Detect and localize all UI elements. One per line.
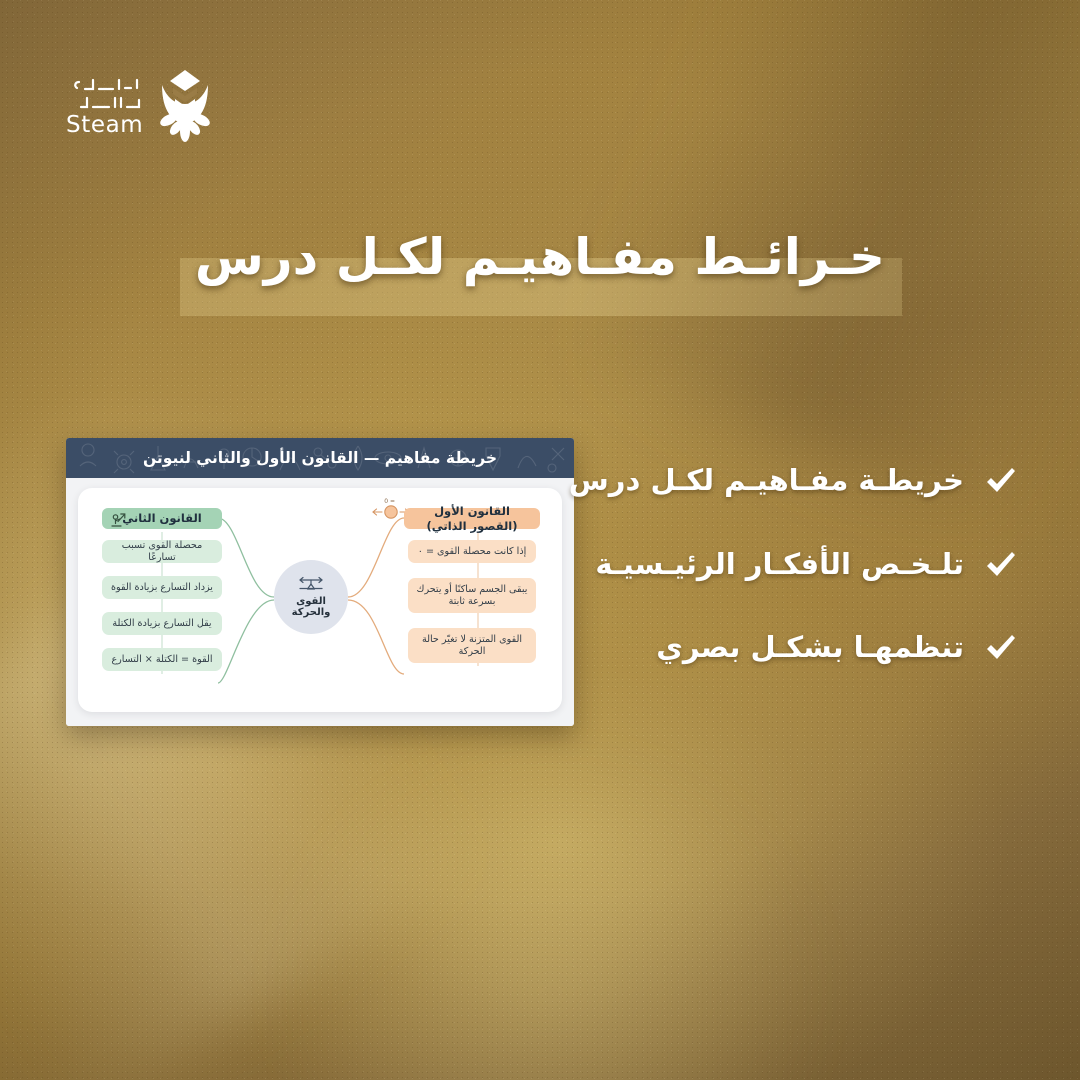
headline: خـرائـط مفـاهيـم لكـل درس bbox=[0, 222, 1080, 322]
steam-lotus-logo-icon bbox=[155, 68, 215, 142]
bullet-item-3: تنظمهـا بشكـل بصري bbox=[538, 629, 1018, 667]
concept-map-title: خريطة مفاهيم — القانون الأول والثاني لني… bbox=[143, 449, 497, 467]
branch-left-node-1[interactable]: محصلة القوى تسبب تسارعًا bbox=[102, 540, 222, 563]
concept-map-hub-label: القوى والحركة bbox=[292, 596, 331, 619]
branch-left-node-4[interactable]: القوة = الكتلة × التسارع bbox=[102, 648, 222, 671]
branch-right-node-1[interactable]: إذا كانت محصلة القوى = ٠ bbox=[408, 540, 536, 563]
balance-scale-icon bbox=[298, 576, 324, 593]
branch-right-node-3[interactable]: القوى المتزنة لا تغيّر حالة الحركة bbox=[408, 628, 536, 663]
branch-left-node-4-label: القوة = الكتلة × التسارع bbox=[111, 654, 212, 666]
feature-bullet-list: خريطـة مفـاهيـم لكـل درس تلـخـص الأفكـار… bbox=[538, 462, 1018, 667]
branch-right-head[interactable]: القانون الأول (القصور الذاتي) bbox=[404, 508, 540, 529]
page-title: خـرائـط مفـاهيـم لكـل درس bbox=[0, 224, 1080, 292]
check-icon bbox=[982, 630, 1018, 666]
bullet-item-2: تلـخـص الأفكـار الرئيـسيـة bbox=[538, 546, 1018, 584]
concept-map-hub: القوى والحركة bbox=[274, 560, 348, 634]
bullet-item-2-label: تلـخـص الأفكـار الرئيـسيـة bbox=[595, 546, 964, 584]
check-icon bbox=[982, 547, 1018, 583]
branch-right-node-2-line2: بسرعة ثابتة bbox=[449, 596, 496, 608]
branch-right-node-2[interactable]: يبقى الجسم ساكنًا أو يتحرك بسرعة ثابتة bbox=[408, 578, 536, 613]
concept-map-card: خريطة مفاهيم — القانون الأول والثاني لني… bbox=[66, 438, 574, 726]
brand-name-latin: Steam bbox=[66, 114, 143, 137]
branch-left-node-3-label: يقل التسارع بزيادة الكتلة bbox=[112, 618, 211, 630]
concept-map-panel: القوى والحركة = 0 bbox=[78, 488, 562, 712]
bullet-item-1: خريطـة مفـاهيـم لكـل درس bbox=[538, 462, 1018, 500]
branch-right-node-3-line2: الحركة bbox=[459, 646, 486, 658]
branch-left-head[interactable]: القانون الثاني bbox=[102, 508, 222, 529]
branch-right-node-3-line1: القوى المتزنة لا تغيّر حالة bbox=[422, 634, 522, 646]
force-arrow-icon bbox=[110, 511, 126, 527]
branch-left-head-label: القانون الثاني bbox=[122, 511, 201, 525]
brand-name-arabic-icon bbox=[69, 74, 143, 114]
concept-map-body: القوى والحركة = 0 bbox=[66, 478, 574, 726]
branch-left-node-2[interactable]: يزداد التسارع بزيادة القوة bbox=[102, 576, 222, 599]
hub-label-line2: والحركة bbox=[292, 607, 331, 618]
branch-right-head-label: القانون الأول (القصور الذاتي) bbox=[410, 504, 534, 532]
brand-wordmark: Steam bbox=[66, 74, 143, 137]
check-icon bbox=[982, 463, 1018, 499]
svg-text:= 0: = 0 bbox=[384, 498, 395, 505]
branch-right-node-2-line1: يبقى الجسم ساكنًا أو يتحرك bbox=[417, 584, 528, 596]
bullet-item-3-label: تنظمهـا بشكـل بصري bbox=[656, 629, 964, 667]
bullet-item-1-label: خريطـة مفـاهيـم لكـل درس bbox=[569, 462, 964, 500]
brand-logo: Steam bbox=[66, 68, 215, 142]
concept-map-header: خريطة مفاهيم — القانون الأول والثاني لني… bbox=[66, 438, 574, 478]
hub-label-line1: القوى bbox=[296, 596, 326, 607]
branch-right-node-1-label: إذا كانت محصلة القوى = ٠ bbox=[418, 546, 527, 558]
branch-left-node-3[interactable]: يقل التسارع بزيادة الكتلة bbox=[102, 612, 222, 635]
branch-left-node-2-label: يزداد التسارع بزيادة القوة bbox=[111, 582, 213, 594]
branch-left-node-1-label: محصلة القوى تسبب تسارعًا bbox=[108, 540, 216, 563]
